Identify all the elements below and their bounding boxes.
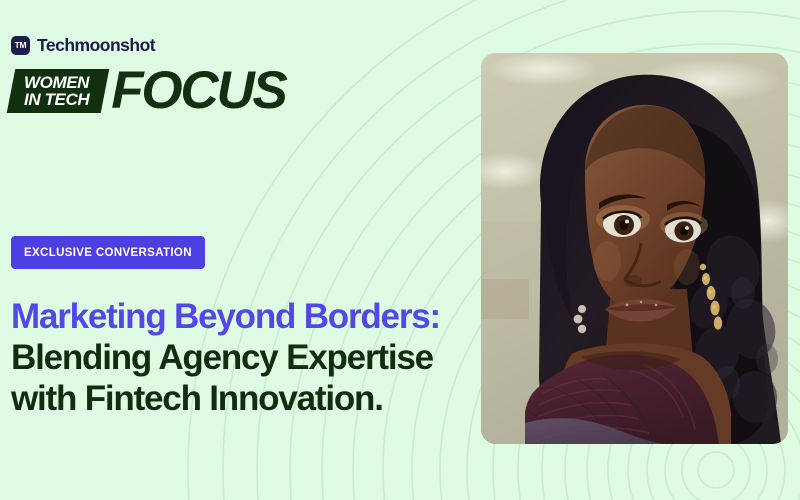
logo-monogram: TM	[15, 41, 27, 50]
guest-portrait-photo	[481, 53, 788, 444]
series-lockup: WOMEN IN TECH FOCUS	[0, 64, 286, 118]
status-badge-label: EXCLUSIVE CONVERSATION	[24, 247, 192, 259]
promo-card: TM Techmoonshot WOMEN IN TECH FOCUS EXCL…	[0, 0, 800, 500]
headline-line-2: Blending Agency Expertise	[11, 337, 481, 378]
headline-line-1: Marketing Beyond Borders:	[11, 296, 481, 337]
brand-name: Techmoonshot	[37, 37, 155, 55]
brand-lockup: TM Techmoonshot	[11, 36, 155, 55]
badge-line-women: WOMEN	[24, 74, 89, 91]
headline-line-3: with Fintech Innovation.	[11, 378, 481, 419]
women-in-tech-badge: WOMEN IN TECH	[7, 69, 110, 113]
techmoonshot-logo-icon: TM	[11, 36, 30, 55]
badge-line-in-tech: IN TECH	[24, 91, 89, 108]
focus-wordmark: FOCUS	[111, 68, 286, 114]
status-badge: EXCLUSIVE CONVERSATION	[11, 236, 205, 269]
page-title: Marketing Beyond Borders: Blending Agenc…	[11, 296, 481, 419]
